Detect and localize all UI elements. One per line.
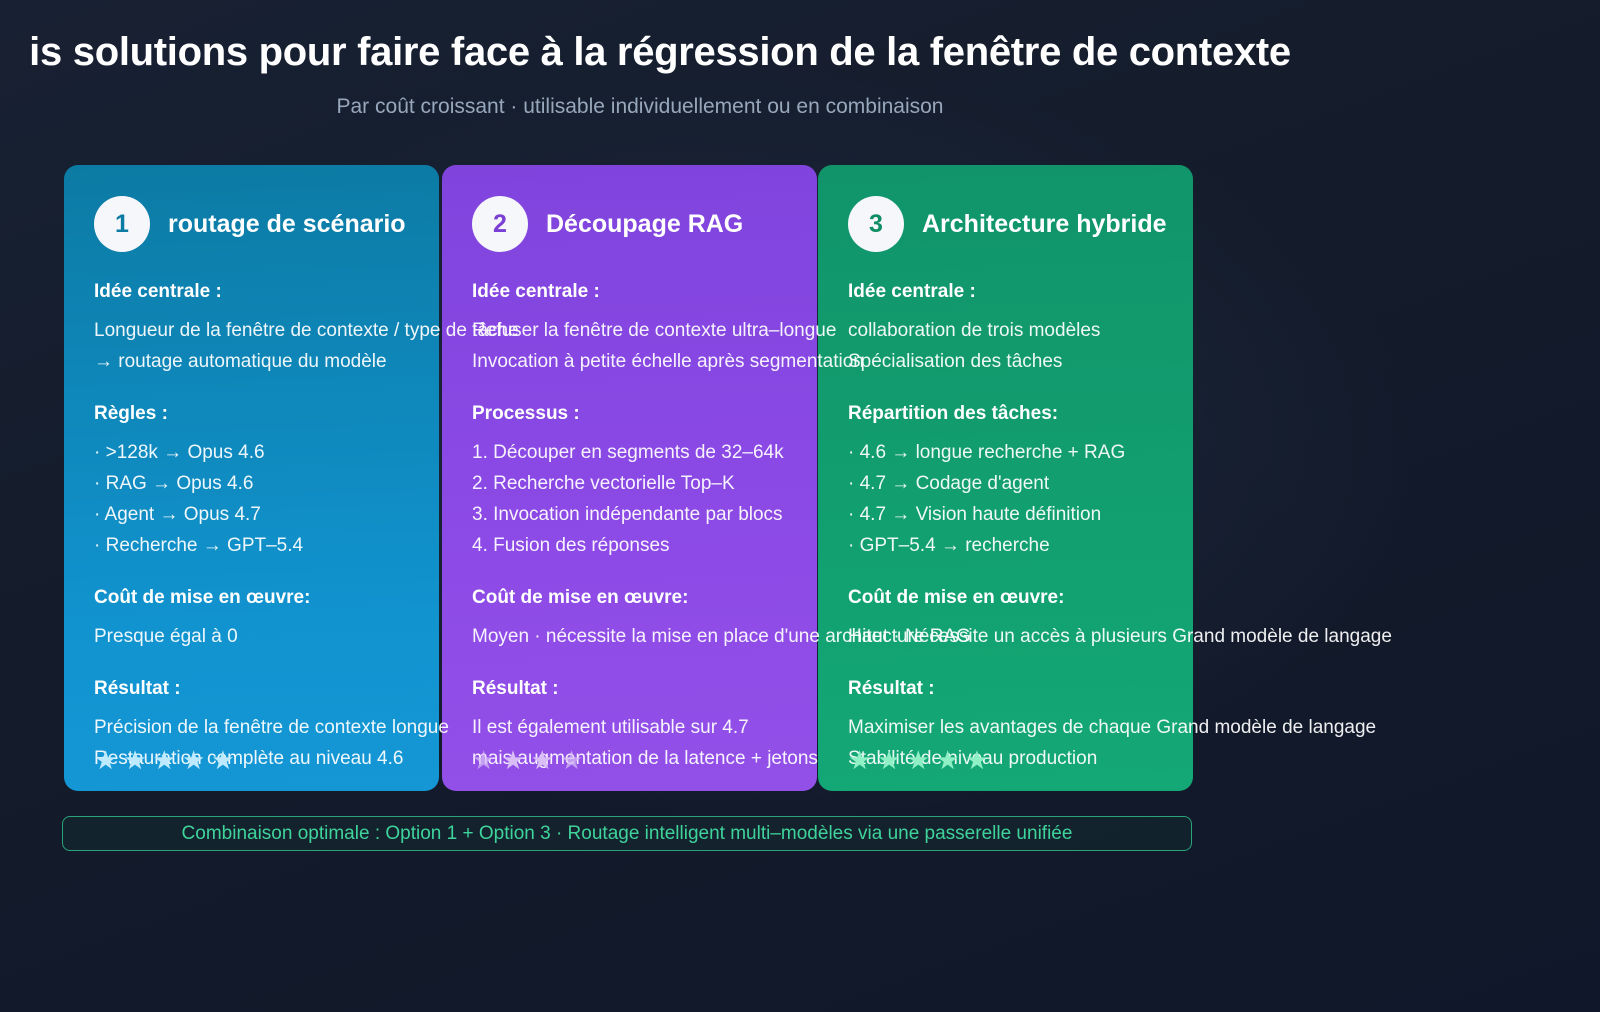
- card-1-idea-line: → routage automatique du modèle: [94, 346, 439, 377]
- star-icon: ★: [472, 747, 501, 773]
- card-3-star-rating: ★★★★★: [848, 747, 995, 773]
- card-2-process-list: 1. Découper en segments de 32–64k 2. Rec…: [472, 437, 817, 561]
- card-1-result-label: Résultat :: [94, 678, 439, 700]
- spacer: [472, 377, 817, 403]
- card-3-number-badge: 3: [848, 196, 904, 252]
- star-icon: ★: [907, 747, 936, 773]
- star-icon: ★: [182, 747, 211, 773]
- spacer: [848, 377, 1193, 403]
- card-2-process-label: Processus :: [472, 403, 817, 425]
- spacer: [472, 561, 817, 587]
- card-3-title: Architecture hybride: [922, 210, 1167, 239]
- list-item: · GPT–5.4 → recherche: [848, 530, 1193, 561]
- star-icon: ★: [936, 747, 965, 773]
- solution-card-2[interactable]: 2 Découpage RAG Idée centrale : Refuser …: [442, 165, 817, 791]
- card-1-rules-list: · >128k → Opus 4.6 · RAG → Opus 4.6 · Ag…: [94, 437, 439, 561]
- page-subtitle: Par coût croissant · utilisable individu…: [0, 95, 1280, 119]
- card-2-cost-value: Moyen · nécessite la mise en place d'une…: [472, 621, 817, 652]
- star-icon: ★: [848, 747, 877, 773]
- card-2-star-rating: ★★★★: [472, 747, 589, 773]
- spacer: [94, 652, 439, 678]
- card-2-title: Découpage RAG: [546, 210, 743, 239]
- list-item: 4. Fusion des réponses: [472, 530, 817, 561]
- card-1-cost-label: Coût de mise en œuvre:: [94, 587, 439, 609]
- star-icon: ★: [531, 747, 560, 773]
- solution-card-3[interactable]: 3 Architecture hybride Idée centrale : c…: [818, 165, 1193, 791]
- card-2-idea-label: Idée centrale :: [472, 281, 817, 303]
- page-title: is solutions pour faire face à la régres…: [0, 30, 1460, 75]
- card-3-tasks-label: Répartition des tâches:: [848, 403, 1193, 425]
- card-1-title: routage de scénario: [168, 210, 406, 239]
- star-icon: ★: [965, 747, 994, 773]
- card-3-cost-label: Coût de mise en œuvre:: [848, 587, 1193, 609]
- card-3-idea-line: Spécialisation des tâches: [848, 346, 1193, 377]
- star-icon: ★: [877, 747, 906, 773]
- list-item: · >128k → Opus 4.6: [94, 437, 439, 468]
- spacer: [94, 561, 439, 587]
- card-1-result-line: Précision de la fenêtre de contexte long…: [94, 712, 439, 743]
- card-2-result-label: Résultat :: [472, 678, 817, 700]
- card-3-result-line: Maximiser les avantages de chaque Grand …: [848, 712, 1193, 743]
- card-2-header: 2 Découpage RAG: [472, 195, 817, 253]
- card-1-header: 1 routage de scénario: [94, 195, 439, 253]
- spacer: [848, 652, 1193, 678]
- star-icon: ★: [123, 747, 152, 773]
- card-2-cost-label: Coût de mise en œuvre:: [472, 587, 817, 609]
- card-1-cost-value: Presque égal à 0: [94, 621, 439, 652]
- card-3-idea-label: Idée centrale :: [848, 281, 1193, 303]
- list-item: · RAG → Opus 4.6: [94, 468, 439, 499]
- solution-cards: 1 routage de scénario Idée centrale : Lo…: [64, 165, 1194, 791]
- list-item: · 4.7 → Codage d'agent: [848, 468, 1193, 499]
- star-icon: ★: [560, 747, 589, 773]
- card-1-idea-line: Longueur de la fenêtre de contexte / typ…: [94, 315, 439, 346]
- spacer: [848, 561, 1193, 587]
- card-1-idea-label: Idée centrale :: [94, 281, 439, 303]
- card-1-number-badge: 1: [94, 196, 150, 252]
- list-item: 1. Découper en segments de 32–64k: [472, 437, 817, 468]
- list-item: · 4.7 → Vision haute définition: [848, 499, 1193, 530]
- card-2-number-badge: 2: [472, 196, 528, 252]
- card-3-header: 3 Architecture hybride: [848, 195, 1193, 253]
- optimal-combination-banner: Combinaison optimale : Option 1 + Option…: [62, 816, 1192, 851]
- card-3-idea-line: collaboration de trois modèles: [848, 315, 1193, 346]
- list-item: 3. Invocation indépendante par blocs: [472, 499, 817, 530]
- card-2-idea-line: Refuser la fenêtre de contexte ultra–lon…: [472, 315, 817, 346]
- list-item: · Recherche → GPT–5.4: [94, 530, 439, 561]
- card-1-rules-label: Règles :: [94, 403, 439, 425]
- card-3-result-label: Résultat :: [848, 678, 1193, 700]
- card-1-star-rating: ★★★★★: [94, 747, 241, 773]
- card-2-result-line: Il est également utilisable sur 4.7: [472, 712, 817, 743]
- list-item: 2. Recherche vectorielle Top–K: [472, 468, 817, 499]
- spacer: [94, 377, 439, 403]
- slide-root: is solutions pour faire face à la régres…: [0, 0, 1600, 1012]
- spacer: [472, 652, 817, 678]
- card-3-tasks-list: · 4.6 → longue recherche + RAG · 4.7 → C…: [848, 437, 1193, 561]
- star-icon: ★: [153, 747, 182, 773]
- star-icon: ★: [211, 747, 240, 773]
- list-item: · 4.6 → longue recherche + RAG: [848, 437, 1193, 468]
- star-icon: ★: [501, 747, 530, 773]
- card-2-idea-line: Invocation à petite échelle après segmen…: [472, 346, 817, 377]
- star-icon: ★: [94, 747, 123, 773]
- optimal-combination-text: Combinaison optimale : Option 1 + Option…: [182, 823, 1073, 845]
- list-item: · Agent → Opus 4.7: [94, 499, 439, 530]
- solution-card-1[interactable]: 1 routage de scénario Idée centrale : Lo…: [64, 165, 439, 791]
